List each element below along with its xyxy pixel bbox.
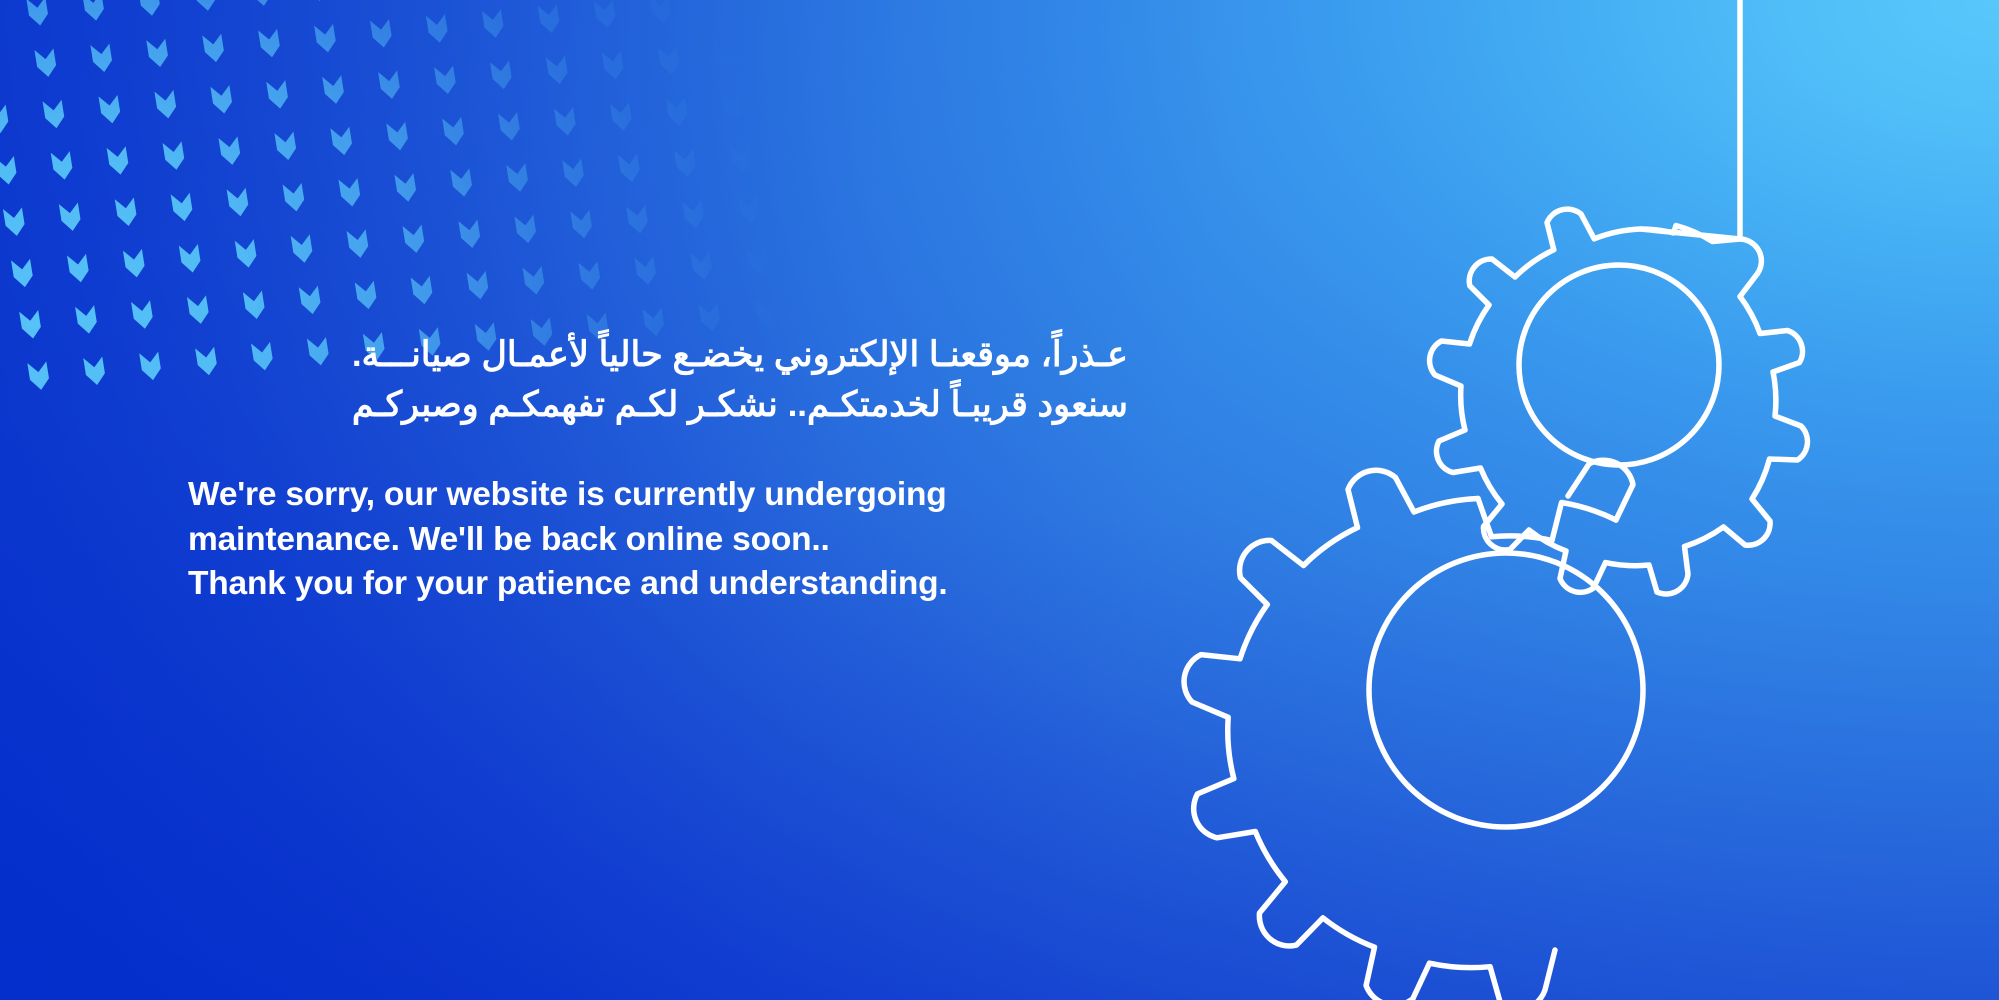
english-message: We're sorry, our website is currently un… [188,473,1148,607]
message-block: عـذراً، موقعنـا الإلكتروني يخضـع حالياً … [188,330,1148,607]
arabic-line-2: سنعود قريبـاً لخدمتكـم.. نشكـر لكـم تفهم… [188,380,1128,430]
english-line-1: We're sorry, our website is currently un… [188,473,1148,518]
arabic-message: عـذراً، موقعنـا الإلكتروني يخضـع حالياً … [188,330,1128,429]
maintenance-page: عـذراً، موقعنـا الإلكتروني يخضـع حالياً … [0,0,1999,1000]
english-line-2: maintenance. We'll be back online soon.. [188,518,1148,563]
english-line-3: Thank you for your patience and understa… [188,562,1148,607]
arabic-line-1: عـذراً، موقعنـا الإلكتروني يخضـع حالياً … [188,330,1128,380]
